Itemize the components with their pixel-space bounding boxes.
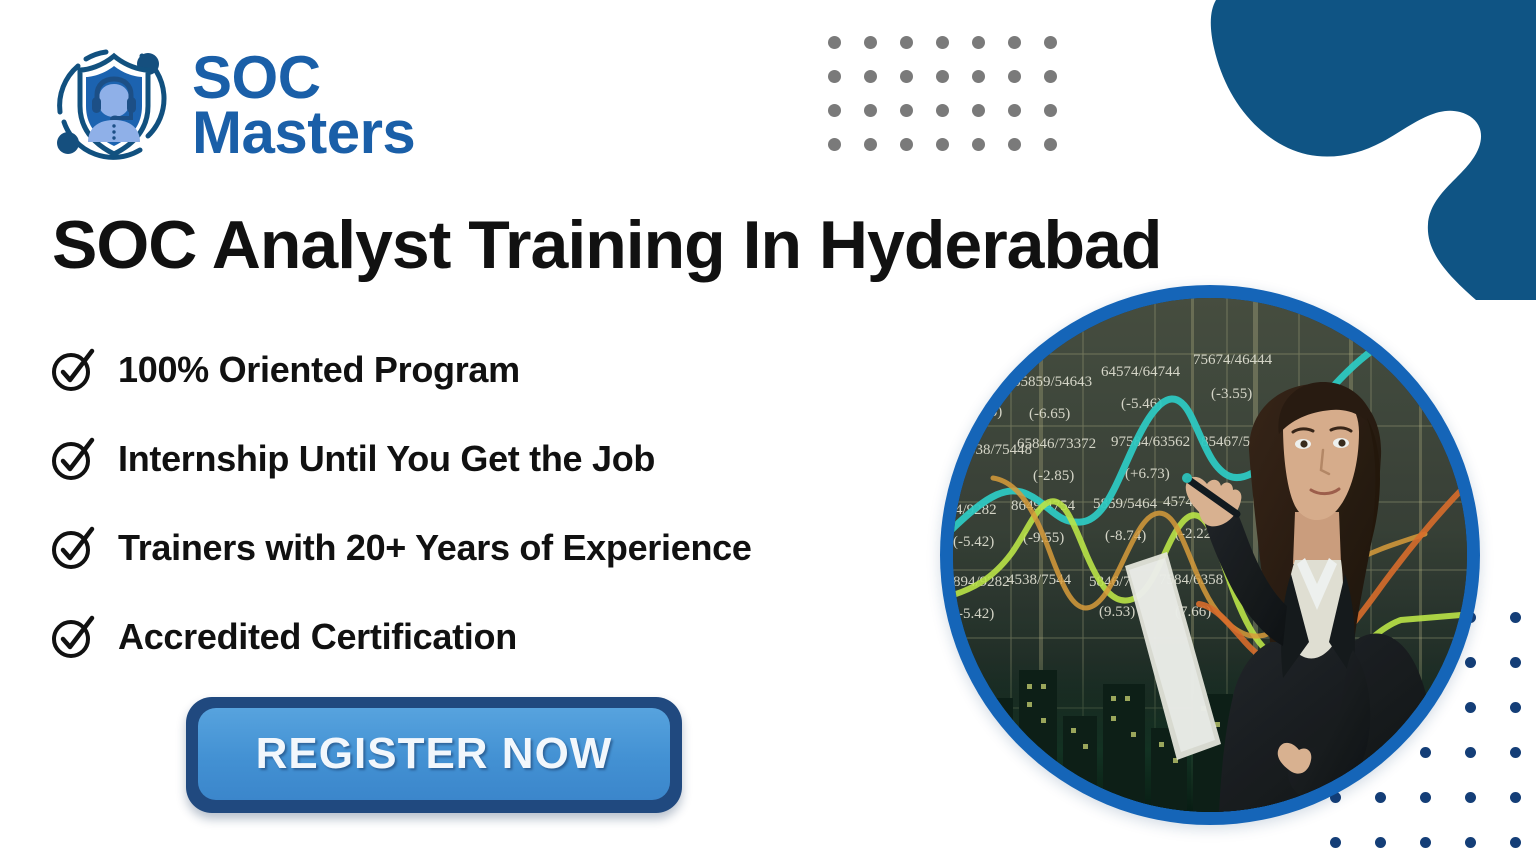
grid-dot	[1044, 70, 1057, 83]
feature-list: 100% Oriented Program Internship Until Y…	[50, 325, 950, 681]
grid-dot	[972, 138, 985, 151]
grid-dot	[1465, 837, 1476, 848]
grid-dot	[864, 104, 877, 117]
grid-dot	[1510, 612, 1521, 623]
button-face: REGISTER NOW	[198, 708, 670, 800]
list-item-label: 100% Oriented Program	[118, 349, 520, 391]
hero-photo-ring: 65859/54643 (-6.65) 64574/64744 (-5.46) …	[940, 285, 1480, 825]
check-circle-icon	[50, 525, 96, 571]
grid-dot	[828, 104, 841, 117]
check-circle-icon	[50, 614, 96, 660]
grid-dot	[900, 70, 913, 83]
grid-dot	[1510, 657, 1521, 668]
grid-dot	[864, 36, 877, 49]
list-item-label: Accredited Certification	[118, 616, 517, 658]
grid-dot	[1044, 36, 1057, 49]
grid-dot	[936, 70, 949, 83]
grid-dot	[900, 104, 913, 117]
list-item: 100% Oriented Program	[50, 325, 950, 414]
grid-dot	[936, 36, 949, 49]
grid-dot	[864, 70, 877, 83]
grid-dot	[1008, 138, 1021, 151]
check-circle-icon	[50, 436, 96, 482]
page-title: SOC Analyst Training In Hyderabad	[52, 206, 1302, 284]
grid-dot	[1330, 837, 1341, 848]
grid-dot	[1008, 104, 1021, 117]
grid-dot	[828, 138, 841, 151]
register-now-button[interactable]: REGISTER NOW	[186, 697, 682, 813]
grid-dot	[972, 36, 985, 49]
grid-dot	[936, 138, 949, 151]
grid-dot	[1510, 702, 1521, 713]
grid-dot	[1375, 837, 1386, 848]
dot-grid-top	[828, 36, 1080, 172]
logo-text-soc: SOC	[192, 50, 415, 105]
grid-dot	[1008, 70, 1021, 83]
grid-dot	[1044, 138, 1057, 151]
grid-dot	[1510, 837, 1521, 848]
grid-dot	[1044, 104, 1057, 117]
list-item: Internship Until You Get the Job	[50, 414, 950, 503]
check-circle-icon	[50, 347, 96, 393]
register-now-label: REGISTER NOW	[256, 729, 613, 779]
grid-dot	[828, 70, 841, 83]
grid-dot	[936, 104, 949, 117]
list-item: Accredited Certification	[50, 592, 950, 681]
shield-headset-agent-icon	[44, 40, 184, 168]
grid-dot	[1510, 792, 1521, 803]
grid-dot	[1420, 837, 1431, 848]
hero-photo: 65859/54643 (-6.65) 64574/64744 (-5.46) …	[953, 298, 1467, 812]
logo-text-masters: Masters	[192, 105, 415, 160]
list-item-label: Trainers with 20+ Years of Experience	[118, 527, 752, 569]
grid-dot	[900, 36, 913, 49]
grid-dot	[828, 36, 841, 49]
list-item-label: Internship Until You Get the Job	[118, 438, 655, 480]
list-item: Trainers with 20+ Years of Experience	[50, 503, 950, 592]
promo-banner: SOC Masters SOC Analyst Training In Hyde…	[0, 0, 1536, 864]
grid-dot	[1008, 36, 1021, 49]
grid-dot	[972, 104, 985, 117]
grid-dot	[1510, 747, 1521, 758]
brand-logo[interactable]: SOC Masters	[44, 40, 415, 168]
grid-dot	[900, 138, 913, 151]
grid-dot	[864, 138, 877, 151]
grid-dot	[972, 70, 985, 83]
